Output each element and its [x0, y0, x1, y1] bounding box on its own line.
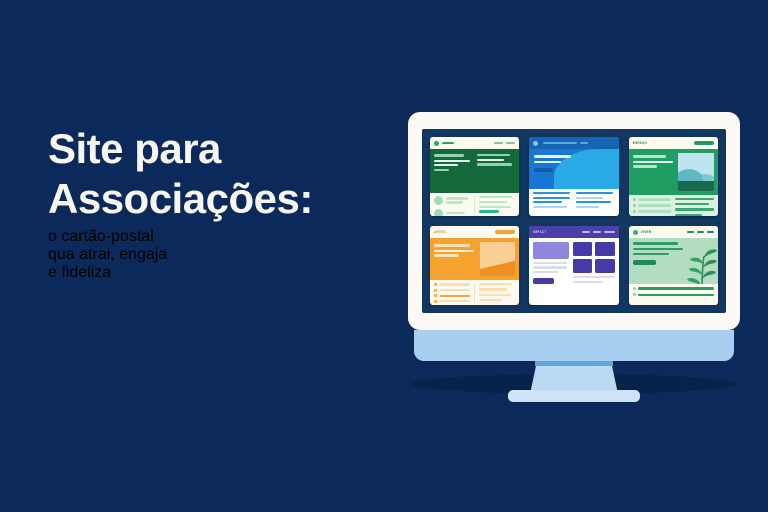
hero-line: [633, 242, 678, 245]
thumbnail-card-orange-arts[interactable]: ARTES: [430, 226, 519, 305]
line: [533, 262, 567, 264]
list-item: [633, 198, 672, 201]
list-item: [434, 294, 470, 297]
line: [533, 192, 570, 194]
card-header: ARTES: [430, 226, 519, 238]
monitor-illustration: ESPAÇO: [404, 112, 744, 402]
card-logo-label: IMPACT: [533, 230, 546, 234]
gallery-tile[interactable]: [573, 259, 593, 273]
gallery-tile[interactable]: [595, 259, 615, 273]
logo-icon: [533, 141, 538, 146]
card-hero: [629, 238, 718, 284]
line: [576, 192, 613, 194]
nav-item[interactable]: [697, 231, 704, 234]
line: [576, 206, 599, 208]
header-cta-button[interactable]: [694, 141, 714, 145]
line: [638, 204, 671, 206]
headline-line-1: Site para: [48, 124, 388, 174]
thumbnail-card-green-landscape[interactable]: ESPAÇO: [629, 137, 718, 216]
line: [675, 214, 702, 216]
line: [440, 295, 471, 297]
line: [479, 196, 512, 198]
subtitle-line-2: qua atrai, engaja: [48, 246, 388, 264]
nav-item[interactable]: [506, 142, 515, 145]
card-hero: [529, 149, 618, 189]
card-hero: [430, 238, 519, 280]
nav-item[interactable]: [593, 231, 601, 234]
divider: [474, 196, 475, 216]
bullet-icon: [633, 293, 636, 296]
cta-button[interactable]: [533, 278, 553, 284]
line: [479, 210, 499, 212]
line: [638, 287, 714, 289]
line: [479, 288, 507, 290]
list-item: [434, 196, 470, 205]
headline-line-2: Associações:: [48, 174, 388, 224]
line: [576, 201, 611, 203]
hero-line: [477, 163, 511, 165]
list-item: [633, 204, 672, 207]
card-body: [629, 284, 718, 305]
bullet-icon: [434, 300, 437, 303]
line: [446, 212, 466, 214]
card-body: [529, 189, 618, 216]
card-header: ESPAÇO: [629, 137, 718, 149]
bullet-icon: [633, 204, 636, 207]
bullet-icon: [434, 294, 437, 297]
list-item: [434, 300, 470, 303]
thumbnail-card-purple-gallery[interactable]: IMPACT: [529, 226, 618, 305]
nav-item[interactable]: [543, 142, 577, 145]
line: [533, 206, 567, 208]
card-hero: [629, 149, 718, 195]
subtitle-line-1: o cartão-postal: [48, 228, 388, 246]
monitor-neck-accent: [535, 361, 613, 366]
card-body: [629, 195, 718, 216]
hero-line: [633, 155, 666, 158]
list-item: [434, 289, 470, 292]
list-item: [633, 287, 714, 290]
nav-item[interactable]: [687, 231, 694, 234]
card-nav: [494, 142, 515, 145]
list-item: [633, 293, 714, 296]
card-body: [529, 238, 618, 305]
feature-image: [533, 242, 568, 259]
logo-wordmark: [442, 142, 454, 145]
card-body: [430, 193, 519, 216]
hero-line: [534, 161, 561, 163]
website-thumbnail-grid: ESPAÇO: [430, 137, 718, 305]
line: [533, 266, 567, 268]
nav-item[interactable]: [580, 142, 588, 145]
nav-item[interactable]: [582, 231, 590, 234]
hero-line: [633, 165, 657, 167]
hero-line: [434, 244, 470, 247]
avatar: [434, 209, 443, 217]
line: [675, 208, 714, 210]
hero-cta-button[interactable]: [534, 168, 553, 172]
hero-line: [534, 155, 570, 158]
card-header: [430, 137, 519, 149]
card-body: [430, 280, 519, 305]
hero-line: [434, 160, 470, 162]
monitor-screen: ESPAÇO: [422, 129, 726, 313]
hero-line: [633, 253, 669, 255]
card-logo-label: VIVER: [641, 230, 652, 234]
bullet-icon: [633, 198, 636, 201]
page-title: Site para Associações:: [48, 124, 388, 224]
poster-canvas: Site para Associações: o cartão-postal q…: [0, 0, 768, 512]
list-item: [633, 210, 672, 213]
line: [479, 283, 512, 285]
card-hero: [430, 149, 519, 193]
divider: [474, 283, 475, 303]
hero-line: [434, 250, 474, 252]
line: [440, 283, 471, 285]
bullet-icon: [434, 283, 437, 286]
hero-line: [477, 154, 510, 156]
line: [479, 294, 511, 296]
line: [638, 198, 671, 200]
monitor-base: [508, 390, 640, 402]
thumbnail-card-green-profile[interactable]: [430, 137, 519, 216]
line: [446, 197, 469, 199]
line: [446, 201, 463, 203]
card-header: IMPACT: [529, 226, 618, 238]
hero-line: [633, 161, 673, 163]
hero-landscape-image: [678, 153, 714, 191]
thumbnail-card-green-plant[interactable]: VIVER: [629, 226, 718, 305]
card-header: [529, 137, 618, 149]
logo-icon: [434, 141, 439, 146]
bullet-icon: [434, 289, 437, 292]
hero-image: [480, 242, 516, 276]
hero-line: [477, 159, 504, 161]
ground-shape: [678, 181, 714, 191]
line: [440, 289, 471, 291]
card-header: VIVER: [629, 226, 718, 238]
line: [638, 294, 714, 296]
line: [533, 201, 562, 203]
bullet-icon: [633, 287, 636, 290]
image-shape: [480, 261, 516, 276]
hero-line: [434, 254, 459, 256]
hero-line: [633, 248, 683, 250]
line: [479, 206, 511, 208]
hero-line: [434, 154, 464, 157]
card-logo-label: ARTES: [434, 230, 446, 234]
thumbnail-card-blue-wave[interactable]: [529, 137, 618, 216]
avatar: [434, 196, 443, 205]
subtitle-line-3: e fideliza: [48, 264, 388, 282]
list-item: [434, 283, 470, 286]
plant-icon: [682, 246, 718, 284]
hero-line: [434, 169, 449, 171]
gallery-tile[interactable]: [595, 242, 615, 256]
hero-cta-button[interactable]: [633, 260, 656, 265]
line: [638, 210, 671, 212]
line: [533, 271, 558, 273]
line: [440, 300, 471, 302]
headline-block: Site para Associações: o cartão-postal q…: [48, 124, 388, 298]
nav-item[interactable]: [494, 142, 503, 145]
line: [675, 203, 708, 205]
line: [573, 276, 615, 278]
logo-icon: [633, 230, 638, 235]
nav-item[interactable]: [707, 231, 714, 234]
header-cta-button[interactable]: [495, 230, 515, 234]
monitor-chin: [414, 330, 734, 361]
line: [479, 299, 502, 301]
gallery-tile[interactable]: [573, 242, 593, 256]
line: [479, 201, 507, 203]
line: [533, 197, 570, 199]
nav-item[interactable]: [604, 231, 615, 234]
line: [573, 281, 603, 283]
bullet-icon: [633, 210, 636, 213]
list-item: [434, 209, 470, 217]
hero-line: [434, 164, 458, 166]
line: [675, 198, 714, 200]
line: [576, 197, 603, 199]
card-logo-label: ESPAÇO: [633, 141, 647, 145]
